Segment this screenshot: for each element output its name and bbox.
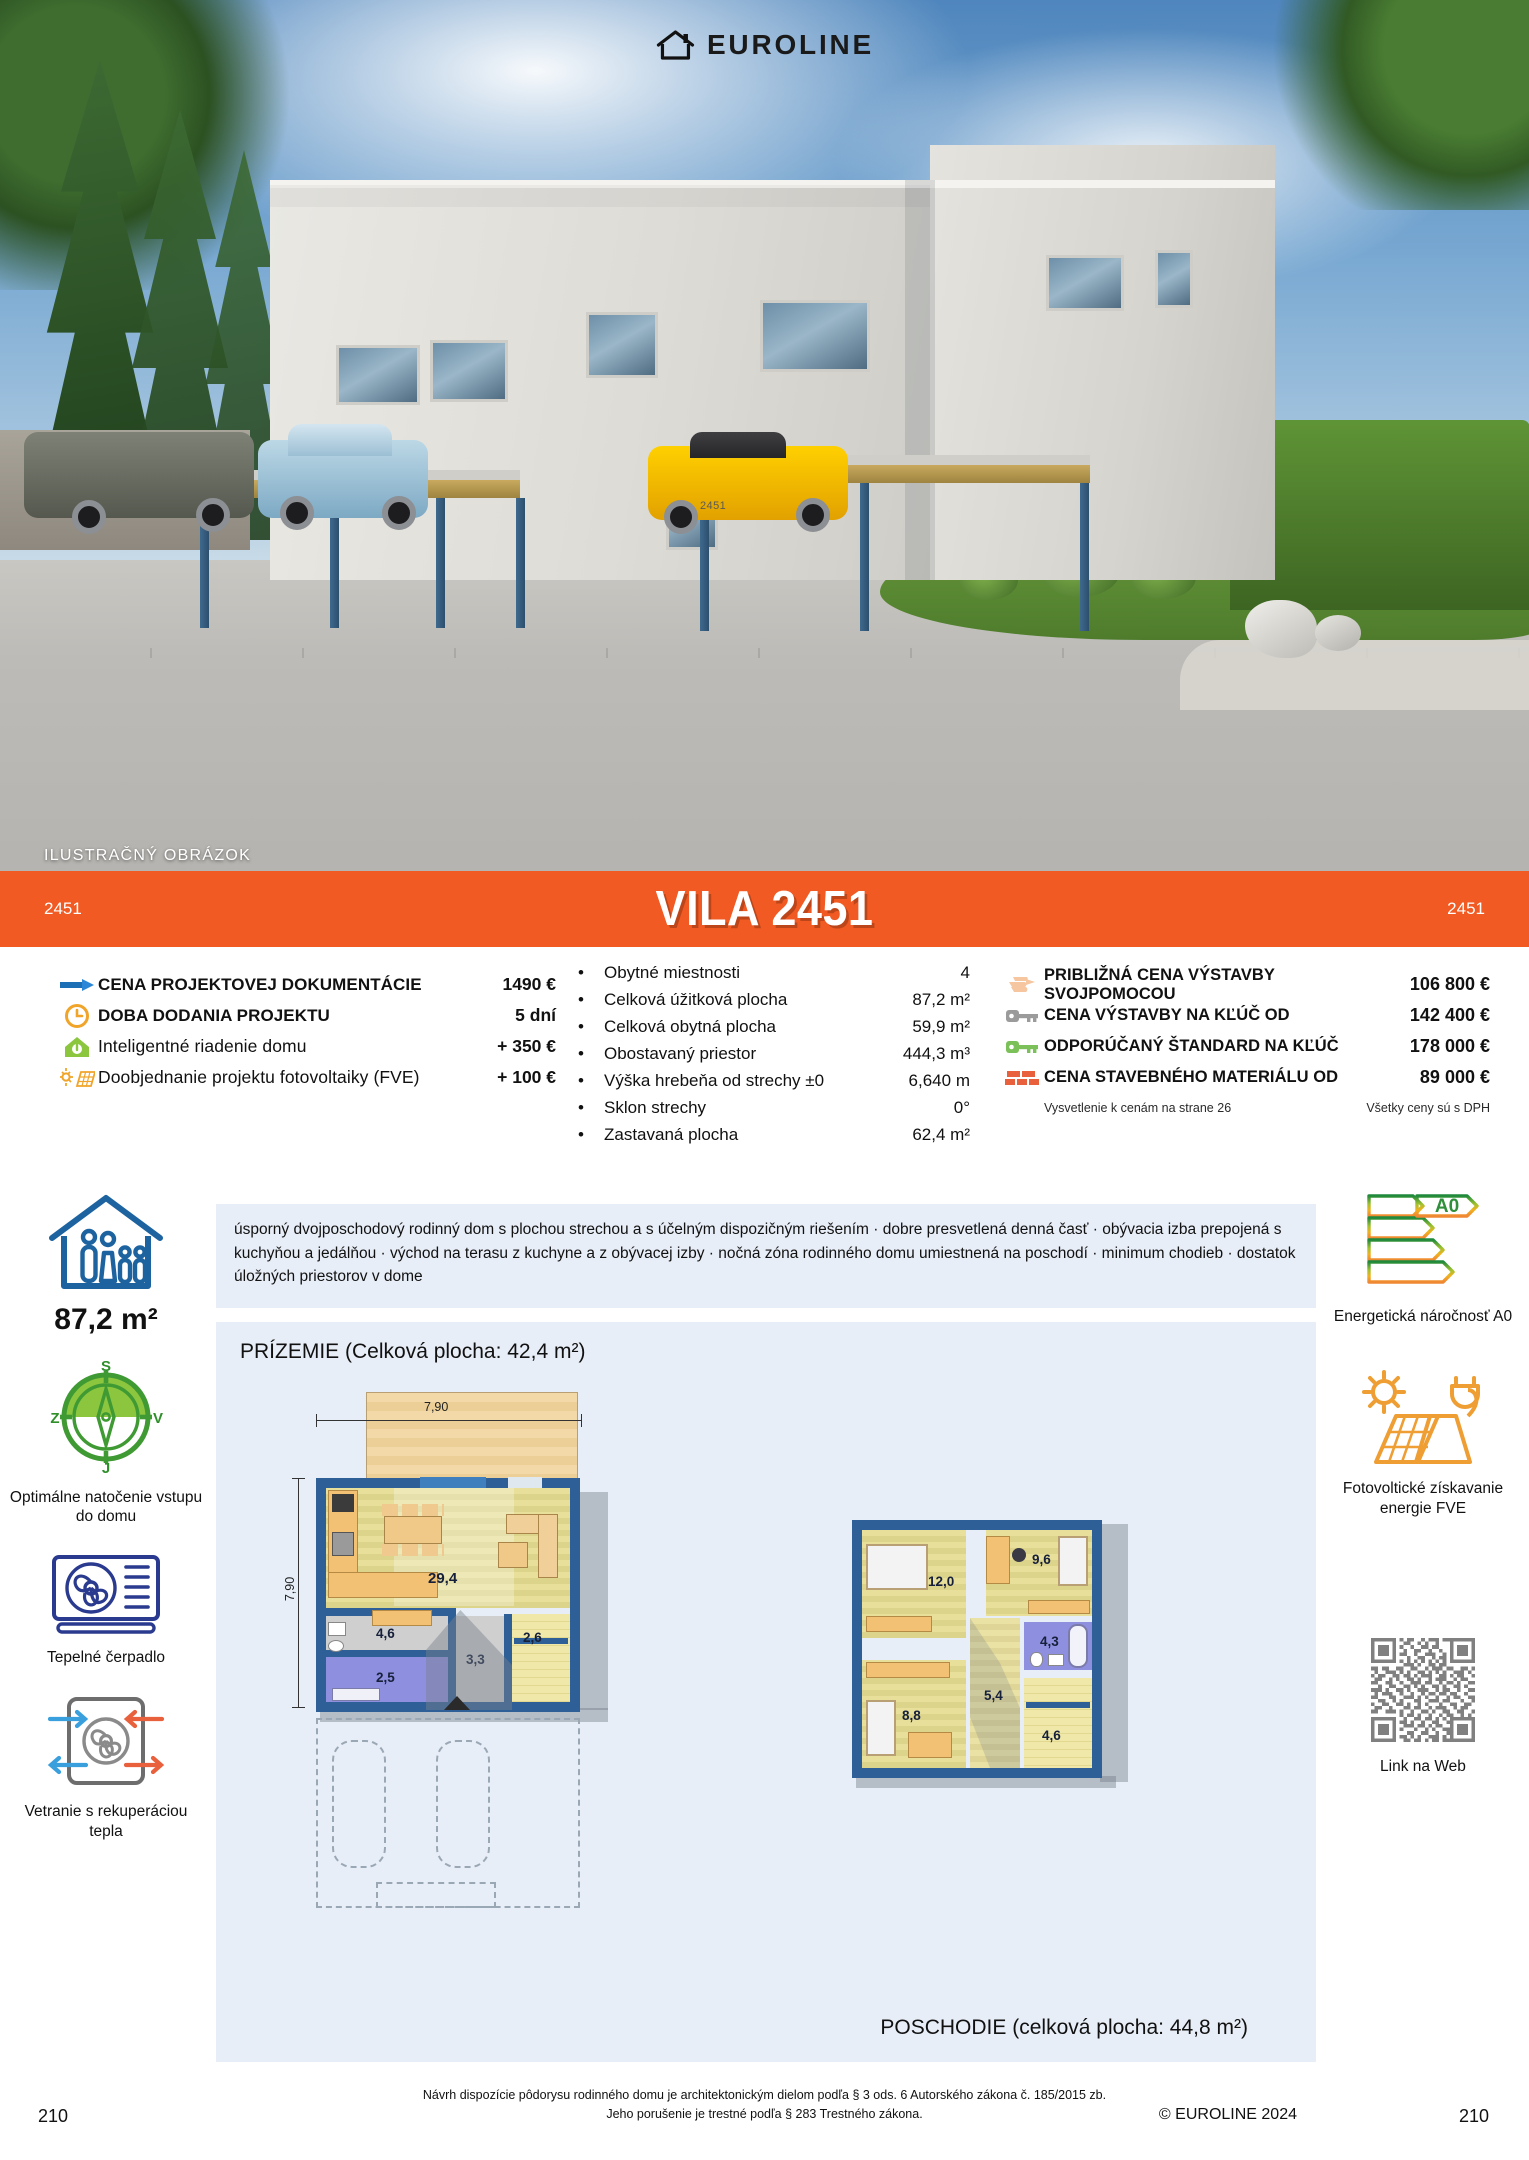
room-area-label: 5,4 bbox=[984, 1688, 1003, 1703]
room-stairs-upper bbox=[1024, 1678, 1092, 1768]
specifications-strip: CENA PROJEKTOVEJ DOKUMENTÁCIE 1490 € DOB… bbox=[0, 947, 1529, 1187]
dimension-top-label: 7,90 bbox=[424, 1400, 448, 1414]
illustration-caption: ILUSTRAČNÝ OBRÁZOK bbox=[44, 847, 251, 865]
parameter-row: •Sklon strechy0° bbox=[570, 1098, 970, 1125]
title-bar: 2451 VILA 2451 2451 bbox=[0, 871, 1529, 947]
parameter-value: 0° bbox=[954, 1098, 970, 1118]
sidebar-item-qr[interactable]: Link na Web bbox=[1325, 1638, 1521, 1776]
spec-row: Inteligentné riadenie domu + 350 € bbox=[56, 1031, 556, 1062]
carport-post bbox=[860, 483, 869, 631]
window bbox=[430, 340, 508, 402]
svg-text:J: J bbox=[102, 1460, 110, 1475]
svg-text:S: S bbox=[101, 1359, 111, 1375]
spec-label: Doobjednanie projektu fotovoltaiky (FVE) bbox=[98, 1067, 497, 1088]
entry-arrow-icon bbox=[444, 1696, 470, 1710]
key-green-icon bbox=[1000, 1038, 1044, 1056]
room-area-label: 2,6 bbox=[523, 1630, 542, 1645]
car-wheel bbox=[382, 496, 416, 530]
dimension-tick bbox=[292, 1707, 305, 1708]
photovoltaic-caption: Fotovoltické získavanie energie FVE bbox=[1325, 1479, 1521, 1518]
qr-code-icon[interactable] bbox=[1371, 1638, 1475, 1742]
car-wheel bbox=[280, 496, 314, 530]
bullet-icon: • bbox=[570, 1045, 604, 1062]
page-footer: Návrh dispozície pôdorysu rodinného domu… bbox=[0, 2080, 1529, 2160]
price-label: PRIBLIŽNÁ CENA VÝSTAVBY SVOJPOMOCOU bbox=[1044, 966, 1410, 1004]
upper-floor-title: POSCHODIE (celková plocha: 44,8 m²) bbox=[880, 2016, 1248, 2040]
catalog-page: 2451 ILUSTRAČNÝ OBRÁZOK EUROLINE 2451 VI… bbox=[0, 0, 1529, 2160]
room-area-label: 4,3 bbox=[1040, 1634, 1059, 1649]
spec-value: 5 dní bbox=[515, 1005, 556, 1026]
wardrobe bbox=[372, 1610, 432, 1626]
toilet bbox=[1030, 1652, 1043, 1667]
house-right-volume bbox=[930, 145, 1275, 580]
decorative-rock bbox=[1315, 615, 1361, 651]
gravel-bed bbox=[1180, 640, 1529, 710]
exterior-wall bbox=[316, 1478, 326, 1712]
window bbox=[1155, 250, 1193, 308]
ventilation-caption: Vetranie s rekuperáciou tepla bbox=[8, 1802, 204, 1841]
upper-floor-drawing: 12,0 9,6 4,3 8,8 5,4 bbox=[836, 1502, 1156, 1822]
exterior-wall bbox=[852, 1520, 1102, 1530]
brand-logo: EUROLINE bbox=[655, 28, 874, 62]
parameter-value: 87,2 m² bbox=[912, 990, 970, 1010]
floorplan-panel: PRÍZEMIE (Celková plocha: 42,4 m²) POSCH… bbox=[216, 1322, 1316, 2062]
car-wheel bbox=[796, 498, 830, 532]
price-list-right: PRIBLIŽNÁ CENA VÝSTAVBY SVOJPOMOCOU 106 … bbox=[1000, 969, 1490, 1115]
parking-outline bbox=[376, 1882, 496, 1908]
wall-shadow bbox=[905, 180, 935, 580]
bullet-icon: • bbox=[570, 1099, 604, 1116]
legal-line-2: Jeho porušenie je trestné podľa § 283 Tr… bbox=[0, 2105, 1529, 2124]
room-area-label: 4,6 bbox=[1042, 1728, 1061, 1743]
clock-icon bbox=[56, 1003, 98, 1029]
brand-name: EUROLINE bbox=[707, 29, 874, 61]
sink bbox=[328, 1622, 346, 1636]
car-outline bbox=[332, 1740, 386, 1868]
desk bbox=[908, 1732, 952, 1758]
sofa bbox=[538, 1514, 558, 1578]
svg-text:Z: Z bbox=[50, 1410, 59, 1427]
dining-chairs bbox=[382, 1544, 444, 1556]
parameter-label: Sklon strechy bbox=[604, 1098, 954, 1118]
description-box: úsporný dvojposchodový rodinný dom s plo… bbox=[216, 1204, 1316, 1308]
parameter-list: •Obytné miestnosti4 •Celková úžitková pl… bbox=[570, 963, 970, 1152]
sidebar-item-ventilation: Vetranie s rekuperáciou tepla bbox=[8, 1693, 204, 1841]
exterior-wall bbox=[852, 1768, 1102, 1778]
parameter-value: 444,3 m³ bbox=[903, 1044, 970, 1064]
office-chair bbox=[1012, 1548, 1026, 1562]
bathtub bbox=[1068, 1624, 1088, 1668]
wall-shadow bbox=[270, 185, 930, 207]
fridge bbox=[332, 1494, 354, 1512]
carport-post bbox=[436, 498, 445, 628]
bathtub bbox=[332, 1688, 380, 1701]
car-sports-cabin bbox=[690, 432, 786, 458]
double-bed bbox=[866, 1544, 928, 1590]
dimension-line-top bbox=[316, 1420, 582, 1421]
price-row: ODPORÚČANÝ ŠTANDARD NA KĽÚČ 178 000 € bbox=[1000, 1031, 1490, 1062]
bullet-icon: • bbox=[570, 1072, 604, 1089]
ground-floor-title: PRÍZEMIE (Celková plocha: 42,4 m²) bbox=[240, 1340, 585, 1364]
car-wheel bbox=[664, 500, 698, 534]
bullet-icon: • bbox=[570, 991, 604, 1008]
parameter-row: •Obostavaný priestor444,3 m³ bbox=[570, 1044, 970, 1071]
bullet-icon: • bbox=[570, 1126, 604, 1143]
exterior-wall bbox=[852, 1520, 862, 1778]
legal-notice: Návrh dispozície pôdorysu rodinného domu… bbox=[0, 2086, 1529, 2124]
dining-table bbox=[384, 1516, 442, 1544]
solar-panel-icon bbox=[56, 1066, 98, 1090]
single-bed bbox=[1058, 1536, 1088, 1586]
living-area-value: 87,2 m² bbox=[8, 1303, 204, 1337]
qr-caption: Link na Web bbox=[1325, 1757, 1521, 1776]
svg-text:A0: A0 bbox=[1435, 1196, 1459, 1217]
dimension-tick bbox=[316, 1414, 317, 1427]
car-hatchback-roof bbox=[288, 424, 392, 456]
room-area-label: 9,6 bbox=[1032, 1552, 1051, 1567]
spec-value: + 100 € bbox=[497, 1067, 556, 1088]
sidebar-item-heat-pump: Tepelné čerpadlo bbox=[8, 1553, 204, 1667]
dimension-left-label: 7,90 bbox=[283, 1577, 297, 1601]
room-area-label: 12,0 bbox=[928, 1574, 954, 1589]
hand-icon bbox=[1000, 974, 1044, 996]
parameter-label: Celková úžitková plocha bbox=[604, 990, 912, 1010]
sidebar-item-energy-class: A0 Energetická náročnosť A0 bbox=[1325, 1190, 1521, 1326]
left-sidebar: 87,2 m² S J Z V Optimálne natočenie vstu… bbox=[8, 1190, 204, 1857]
family-house-icon bbox=[44, 1190, 168, 1294]
parameter-row: •Zastavaná plocha62,4 m² bbox=[570, 1125, 970, 1152]
orientation-caption: Optimálne natočenie vstupu do domu bbox=[8, 1488, 204, 1527]
price-note-left: Vysvetlenie k cenám na strane 26 bbox=[1044, 1101, 1231, 1115]
sink bbox=[1048, 1654, 1064, 1666]
window bbox=[586, 312, 658, 378]
window bbox=[760, 300, 870, 372]
smart-home-icon bbox=[56, 1035, 98, 1059]
energy-class-icon: A0 bbox=[1361, 1190, 1485, 1294]
dimension-tick bbox=[292, 1478, 305, 1479]
spec-label: CENA PROJEKTOVEJ DOKUMENTÁCIE bbox=[98, 975, 502, 995]
parameter-value: 4 bbox=[961, 963, 970, 983]
price-value: 106 800 € bbox=[1410, 974, 1490, 995]
price-list-left: CENA PROJEKTOVEJ DOKUMENTÁCIE 1490 € DOB… bbox=[56, 969, 556, 1093]
toilet bbox=[328, 1640, 344, 1652]
room-stairs bbox=[512, 1614, 570, 1702]
kitchen-counter bbox=[328, 1572, 438, 1598]
page-number-left: 210 bbox=[38, 2106, 68, 2127]
window bbox=[336, 345, 420, 405]
svg-text:V: V bbox=[153, 1410, 163, 1427]
stair-rail bbox=[1026, 1702, 1090, 1708]
parameter-row: •Obytné miestnosti4 bbox=[570, 963, 970, 990]
coffee-table bbox=[498, 1542, 528, 1568]
window-glazing bbox=[508, 1477, 542, 1488]
spec-row: CENA PROJEKTOVEJ DOKUMENTÁCIE 1490 € bbox=[56, 969, 556, 1000]
window bbox=[1046, 255, 1124, 311]
parameter-label: Obytné miestnosti bbox=[604, 963, 961, 983]
price-note-right: Všetky ceny sú s DPH bbox=[1366, 1101, 1490, 1115]
ground-floor-drawing: 7,90 7,90 bbox=[276, 1382, 696, 1942]
price-value: 142 400 € bbox=[1410, 1005, 1490, 1026]
parameter-label: Celková obytná plocha bbox=[604, 1017, 912, 1037]
wardrobe bbox=[866, 1662, 950, 1678]
heat-pump-icon bbox=[44, 1553, 168, 1635]
oven bbox=[332, 1532, 354, 1556]
house-number: 2451 bbox=[700, 500, 726, 512]
page-title: VILA 2451 bbox=[61, 881, 1468, 937]
price-row: CENA VÝSTAVBY NA KĽÚČ OD 142 400 € bbox=[1000, 1000, 1490, 1031]
price-row: CENA STAVEBNÉHO MATERIÁLU OD 89 000 € bbox=[1000, 1062, 1490, 1093]
car-outline bbox=[436, 1740, 490, 1868]
dimension-tick bbox=[581, 1414, 582, 1427]
price-label: ODPORÚČANÝ ŠTANDARD NA KĽÚČ bbox=[1044, 1037, 1410, 1056]
dimension-line-left bbox=[298, 1478, 299, 1708]
price-value: 89 000 € bbox=[1420, 1067, 1490, 1088]
right-sidebar: A0 Energetická náročnosť A0 bbox=[1325, 1190, 1521, 1793]
price-label: CENA VÝSTAVBY NA KĽÚČ OD bbox=[1044, 1006, 1410, 1025]
wardrobe bbox=[1028, 1600, 1090, 1614]
bullet-icon: • bbox=[570, 964, 604, 981]
parameter-value: 62,4 m² bbox=[912, 1125, 970, 1145]
copyright: © EUROLINE 2024 bbox=[1159, 2106, 1297, 2124]
description-text: úsporný dvojposchodový rodinný dom s plo… bbox=[234, 1218, 1298, 1289]
carport-post bbox=[1080, 483, 1089, 631]
compass-icon: S J Z V bbox=[48, 1359, 164, 1475]
legal-line-1: Návrh dispozície pôdorysu rodinného domu… bbox=[0, 2086, 1529, 2105]
bricks-icon bbox=[1000, 1069, 1044, 1087]
parameter-label: Obostavaný priestor bbox=[604, 1044, 903, 1064]
price-row: PRIBLIŽNÁ CENA VÝSTAVBY SVOJPOMOCOU 106 … bbox=[1000, 969, 1490, 1000]
photovoltaic-icon bbox=[1356, 1370, 1490, 1466]
heat-recovery-ventilation-icon bbox=[44, 1693, 168, 1789]
exterior-wall bbox=[1092, 1520, 1102, 1778]
room-area-label: 4,6 bbox=[376, 1626, 395, 1641]
exterior-wall bbox=[570, 1478, 580, 1712]
house-outline-icon bbox=[655, 28, 695, 62]
parameter-row: •Výška hrebeňa od strechy ±06,640 m bbox=[570, 1071, 970, 1098]
room-area-label: 8,8 bbox=[902, 1708, 921, 1723]
pencil-icon bbox=[56, 978, 98, 992]
desk bbox=[986, 1536, 1010, 1584]
carport-post bbox=[516, 498, 525, 628]
tree-foliage-right bbox=[1259, 0, 1529, 210]
car-wheel bbox=[196, 498, 230, 532]
parameter-value: 59,9 m² bbox=[912, 1017, 970, 1037]
dining-chairs bbox=[382, 1504, 444, 1516]
wardrobe bbox=[866, 1616, 932, 1632]
parameter-value: 6,640 m bbox=[909, 1071, 970, 1091]
single-bed bbox=[866, 1700, 896, 1756]
car-wheel bbox=[72, 500, 106, 534]
spec-row: DOBA DODANIA PROJEKTU 5 dní bbox=[56, 1000, 556, 1031]
parameter-row: •Celková úžitková plocha87,2 m² bbox=[570, 990, 970, 1017]
key-grey-icon bbox=[1000, 1007, 1044, 1025]
spec-label: DOBA DODANIA PROJEKTU bbox=[98, 1006, 515, 1026]
sidebar-item-living-area: 87,2 m² bbox=[8, 1190, 204, 1337]
price-label: CENA STAVEBNÉHO MATERIÁLU OD bbox=[1044, 1068, 1420, 1087]
room-area-label: 29,4 bbox=[428, 1570, 457, 1587]
parameter-label: Zastavaná plocha bbox=[604, 1125, 912, 1145]
sidebar-item-photovoltaic: Fotovoltické získavanie energie FVE bbox=[1325, 1370, 1521, 1518]
plan-shadow bbox=[1100, 1524, 1128, 1782]
spec-value: 1490 € bbox=[502, 974, 556, 995]
window-glazing bbox=[420, 1477, 486, 1488]
parameter-row: •Celková obytná plocha59,9 m² bbox=[570, 1017, 970, 1044]
spec-row: Doobjednanie projektu fotovoltaiky (FVE)… bbox=[56, 1062, 556, 1093]
sidebar-item-orientation: S J Z V Optimálne natočenie vstupu do do… bbox=[8, 1359, 204, 1527]
room-area-label: 2,5 bbox=[376, 1670, 395, 1685]
bullet-icon: • bbox=[570, 1018, 604, 1035]
page-number-right: 210 bbox=[1459, 2106, 1489, 2127]
heat-pump-caption: Tepelné čerpadlo bbox=[8, 1648, 204, 1667]
price-value: 178 000 € bbox=[1410, 1036, 1490, 1057]
energy-class-caption: Energetická náročnosť A0 bbox=[1325, 1307, 1521, 1326]
price-notes: Vysvetlenie k cenám na strane 26 Všetky … bbox=[1000, 1093, 1490, 1115]
hero-image: 2451 ILUSTRAČNÝ OBRÁZOK EUROLINE bbox=[0, 0, 1529, 887]
spec-value: + 350 € bbox=[497, 1036, 556, 1057]
parameter-label: Výška hrebeňa od strechy ±0 bbox=[604, 1071, 909, 1091]
spec-label: Inteligentné riadenie domu bbox=[98, 1036, 497, 1057]
